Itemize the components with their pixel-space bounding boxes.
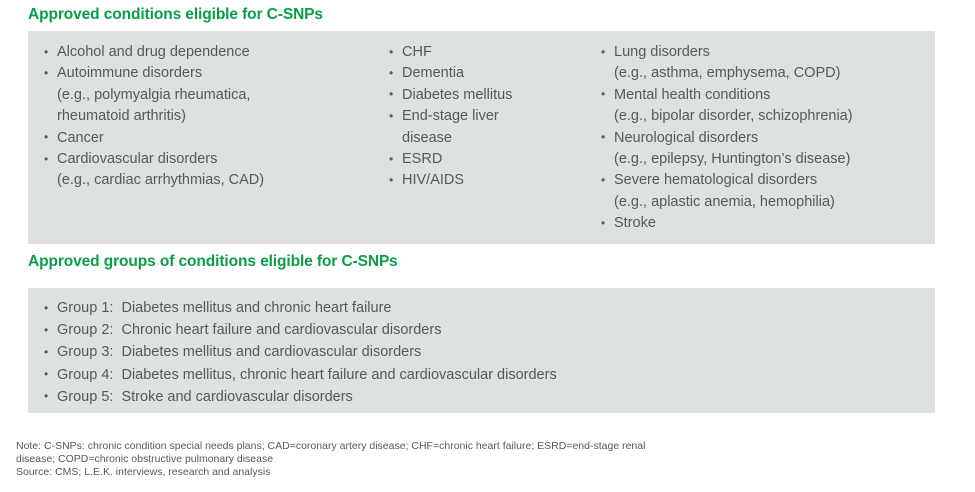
group-label: Group 4:: [57, 367, 113, 383]
footnote-source-line: Source: CMS; L.E.K. interviews, research…: [16, 466, 956, 479]
conditions-column-3: Lung disorders(e.g., asthma, emphysema, …: [598, 42, 935, 244]
list-item: Stroke: [598, 213, 935, 234]
panel-approved-conditions: Alcohol and drug dependenceAutoimmune di…: [28, 31, 935, 244]
list-item-label: Lung disorders: [614, 44, 710, 60]
list-item: Group 4: Diabetes mellitus, chronic hear…: [41, 364, 557, 386]
list-item: HIV/AIDS: [386, 170, 598, 191]
list-item-label: HIV/AIDS: [402, 172, 464, 188]
list-item-label: End-stage liver: [402, 108, 499, 124]
list-item-label: Cancer: [57, 130, 104, 146]
group-label: Group 5:: [57, 389, 113, 405]
list-item: Autoimmune disorders(e.g., polymyalgia r…: [41, 63, 386, 127]
list-item: End-stage liverdisease: [386, 106, 598, 149]
conditions-column-1: Alcohol and drug dependenceAutoimmune di…: [28, 42, 386, 244]
list-item-label: Autoimmune disorders: [57, 65, 202, 81]
footnotes: Note: C-SNPs: chronic condition special …: [16, 440, 956, 478]
list-item-label: ESRD: [402, 151, 442, 167]
group-description: Stroke and cardiovascular disorders: [121, 389, 352, 405]
list-item: Severe hematological disorders(e.g., apl…: [598, 170, 935, 213]
list-item: Diabetes mellitus: [386, 85, 598, 106]
list-item-label: Dementia: [402, 65, 464, 81]
group-description: Chronic heart failure and cardiovascular…: [121, 322, 441, 338]
list-item-label: Alcohol and drug dependence: [57, 44, 250, 60]
list-item-detail: (e.g., aplastic anemia, hemophilia): [614, 192, 935, 213]
list-item: Group 5: Stroke and cardiovascular disor…: [41, 386, 557, 408]
conditions-list-1: Alcohol and drug dependenceAutoimmune di…: [41, 42, 386, 192]
panel-approved-groups: Group 1: Diabetes mellitus and chronic h…: [28, 288, 935, 413]
group-description: Diabetes mellitus and cardiovascular dis…: [121, 344, 421, 360]
list-item-label: CHF: [402, 44, 432, 60]
list-item-detail: (e.g., cardiac arrhythmias, CAD): [57, 170, 386, 191]
list-item: Cardiovascular disorders(e.g., cardiac a…: [41, 149, 386, 192]
list-item: Dementia: [386, 63, 598, 84]
list-item: Alcohol and drug dependence: [41, 42, 386, 63]
footnote-note-line-1: Note: C-SNPs: chronic condition special …: [16, 440, 956, 453]
list-item: Group 3: Diabetes mellitus and cardiovas…: [41, 341, 557, 363]
list-item-detail: disease: [402, 128, 598, 149]
list-item-label: Cardiovascular disorders: [57, 151, 217, 167]
groups-list: Group 1: Diabetes mellitus and chronic h…: [41, 297, 557, 408]
list-item: Group 2: Chronic heart failure and cardi…: [41, 319, 557, 341]
list-item: CHF: [386, 42, 598, 63]
list-item: Neurological disorders(e.g., epilepsy, H…: [598, 128, 935, 171]
page-title-approved-conditions: Approved conditions eligible for C-SNPs: [28, 7, 323, 23]
list-item-label: Mental health conditions: [614, 87, 770, 103]
group-label: Group 3:: [57, 344, 113, 360]
conditions-column-2: CHFDementiaDiabetes mellitusEnd-stage li…: [386, 42, 598, 244]
conditions-columns: Alcohol and drug dependenceAutoimmune di…: [28, 31, 935, 244]
list-item-label: Stroke: [614, 215, 656, 231]
group-label: Group 1:: [57, 300, 113, 316]
list-item-detail: (e.g., epilepsy, Huntington’s disease): [614, 149, 935, 170]
list-item-label: Diabetes mellitus: [402, 87, 512, 103]
group-description: Diabetes mellitus and chronic heart fail…: [121, 300, 391, 316]
page-title-approved-groups: Approved groups of conditions eligible f…: [28, 254, 398, 270]
list-item-detail: rheumatoid arthritis): [57, 106, 386, 127]
list-item: ESRD: [386, 149, 598, 170]
group-label: Group 2:: [57, 322, 113, 338]
list-item: Group 1: Diabetes mellitus and chronic h…: [41, 297, 557, 319]
list-item-detail: (e.g., polymyalgia rheumatica,: [57, 85, 386, 106]
list-item-label: Neurological disorders: [614, 130, 758, 146]
group-description: Diabetes mellitus, chronic heart failure…: [121, 367, 556, 383]
list-item-detail: (e.g., asthma, emphysema, COPD): [614, 63, 935, 84]
list-item-detail: (e.g., bipolar disorder, schizophrenia): [614, 106, 935, 127]
list-item: Lung disorders(e.g., asthma, emphysema, …: [598, 42, 935, 85]
list-item: Cancer: [41, 128, 386, 149]
list-item-label: Severe hematological disorders: [614, 172, 817, 188]
slide-root: Approved conditions eligible for C-SNPs …: [0, 0, 975, 492]
list-item: Mental health conditions(e.g., bipolar d…: [598, 85, 935, 128]
conditions-list-3: Lung disorders(e.g., asthma, emphysema, …: [598, 42, 935, 235]
footnote-note-line-2: disease; COPD=chronic obstructive pulmon…: [16, 453, 956, 466]
conditions-list-2: CHFDementiaDiabetes mellitusEnd-stage li…: [386, 42, 598, 192]
